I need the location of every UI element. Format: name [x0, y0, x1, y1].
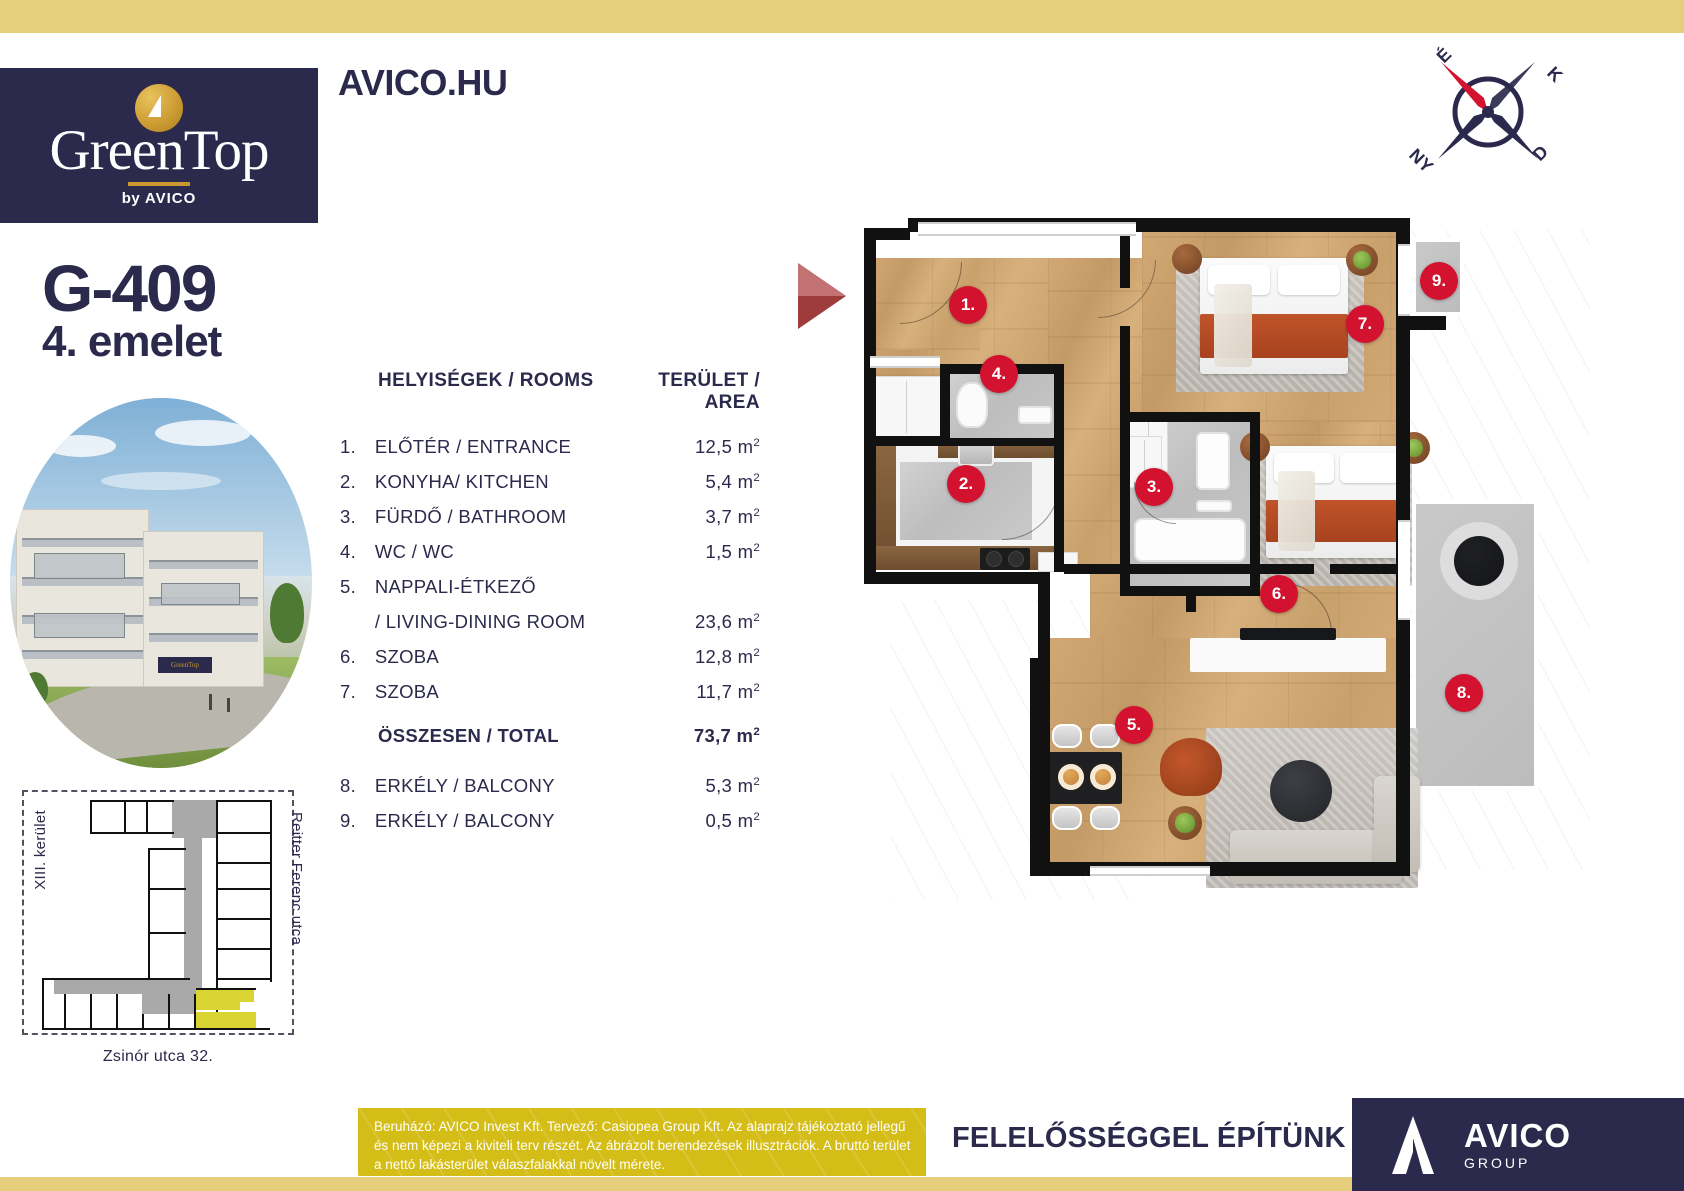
row-name: / LIVING-DINING ROOM: [375, 611, 621, 633]
table-row: 4. WC / WC 1,5 m2: [340, 541, 760, 563]
photo-balcony: [34, 613, 125, 639]
row-name: ERKÉLY / BALCONY: [375, 775, 621, 797]
television: [1240, 628, 1336, 640]
room-marker-9[interactable]: 9.: [1420, 262, 1458, 300]
row-name: SZOBA: [375, 681, 621, 703]
rooms-table-header: HELYISÉGEK / ROOMS TERÜLET / AREA: [340, 370, 760, 414]
room-marker-4[interactable]: 4.: [980, 355, 1018, 393]
row-area: 23,6 m2: [621, 611, 760, 633]
row-name: NAPPALI-ÉTKEZŐ: [375, 576, 621, 598]
row-index: 6.: [340, 646, 375, 668]
row-area: 1,5 m2: [621, 541, 760, 563]
balcony-door-8: [1398, 520, 1410, 620]
balcony-door-9: [1398, 244, 1410, 316]
dining-plate: [1058, 764, 1084, 790]
nightstand-bedroom7: [1172, 244, 1202, 274]
photo-person: [209, 694, 212, 710]
dining-table: [1048, 752, 1122, 804]
room-marker-8[interactable]: 8.: [1445, 674, 1483, 712]
row-index: 8.: [340, 775, 375, 797]
site-plan-street-bottom: Zsinór utca 32.: [22, 1048, 294, 1066]
row-name: ERKÉLY / BALCONY: [375, 810, 621, 832]
row-name: KONYHA/ KITCHEN: [375, 471, 621, 493]
window: [1090, 866, 1210, 876]
site-plan-core: [172, 800, 218, 838]
site-url: AVICO.HU: [338, 62, 507, 104]
row-index: 5.: [340, 576, 375, 598]
greentop-logo: GreenTop by AVICO: [0, 68, 318, 223]
room-marker-6[interactable]: 6.: [1260, 575, 1298, 613]
dining-chair: [1052, 806, 1082, 830]
area-header-label: TERÜLET / AREA: [608, 370, 760, 414]
table-row: 1. ELŐTÉR / ENTRANCE 12,5 m2: [340, 436, 760, 458]
total-label: ÖSSZESEN / TOTAL: [340, 725, 608, 747]
shower: [1196, 432, 1230, 490]
photo-cloud: [155, 420, 251, 446]
avico-logo-sub: GROUP: [1464, 1156, 1571, 1170]
photo-cloud: [101, 472, 221, 490]
table-row: 8. ERKÉLY / BALCONY 5,3 m2: [340, 775, 760, 797]
dining-plate: [1090, 764, 1116, 790]
logo-divider: [128, 182, 190, 186]
apartment-floorplan: 1. 2. 3. 4. 5. 6. 7. 8. 9.: [790, 200, 1590, 930]
total-area: 73,7 m2: [608, 725, 760, 747]
photo-signage: GreenTop: [158, 657, 212, 673]
compass-north-label: É: [1432, 43, 1455, 66]
window: [918, 222, 1136, 236]
row-name: SZOBA: [375, 646, 621, 668]
balcony-table: [1454, 536, 1504, 586]
living-plant: [1168, 806, 1202, 840]
row-index: 1.: [340, 436, 375, 458]
bathtub: [1134, 518, 1246, 562]
row-name: WC / WC: [375, 541, 621, 563]
bed-bedroom6: [1266, 446, 1408, 558]
row-area: 5,3 m2: [621, 775, 760, 797]
table-row: 2. KONYHA/ KITCHEN 5,4 m2: [340, 471, 760, 493]
compass-east-label: K: [1543, 63, 1566, 86]
logo-byline: by AVICO: [122, 190, 197, 207]
row-area: 5,4 m2: [621, 471, 760, 493]
site-plan-highlight-unit: [196, 990, 240, 1010]
window: [870, 356, 940, 368]
dining-chair: [1090, 806, 1120, 830]
compass-south-label: D: [1529, 141, 1552, 164]
avico-logo-text: AVICO GROUP: [1464, 1119, 1571, 1170]
table-row: — / LIVING-DINING ROOM 23,6 m2: [340, 611, 760, 633]
row-index: 3.: [340, 506, 375, 528]
disclaimer-text: Beruházó: AVICO Invest Kft. Tervező: Cas…: [374, 1117, 912, 1174]
room-marker-1[interactable]: 1.: [949, 286, 987, 324]
logo-avico-text: AVICO: [145, 190, 196, 207]
kitchen-counter-bottom: [872, 546, 1062, 570]
row-area: 0,5 m2: [621, 810, 760, 832]
row-area: 12,5 m2: [621, 436, 760, 458]
row-index: 2.: [340, 471, 375, 493]
greentop-emblem-icon: [135, 84, 183, 132]
room-marker-3[interactable]: 3.: [1135, 468, 1173, 506]
site-plan-street-right: Reitter Ferenc utca: [288, 812, 305, 945]
site-plan-district: XIII. kerület: [32, 810, 49, 890]
bathroom-sink: [1196, 500, 1232, 512]
cooktop: [980, 548, 1030, 570]
disclaimer-box: Beruházó: AVICO Invest Kft. Tervező: Cas…: [358, 1108, 926, 1176]
avico-group-logo: AVICO GROUP: [1352, 1098, 1684, 1191]
site-plan-highlight-unit: [240, 990, 254, 1002]
avico-logo-name: AVICO: [1464, 1119, 1571, 1152]
wc-sink: [1018, 406, 1052, 424]
table-row: 5. NAPPALI-ÉTKEZŐ: [340, 576, 760, 598]
photo-balcony: [34, 553, 125, 579]
photo-building-left: [16, 509, 149, 687]
room-marker-5[interactable]: 5.: [1115, 706, 1153, 744]
row-name: FÜRDŐ / BATHROOM: [375, 506, 621, 528]
photo-tree: [270, 583, 304, 643]
row-index: 9.: [340, 810, 375, 832]
site-plan: XIII. kerület: [22, 790, 294, 1035]
unit-floor: 4. emelet: [42, 320, 221, 364]
bed-bedroom7: [1200, 258, 1348, 374]
rooms-header-label: HELYISÉGEK / ROOMS: [340, 370, 608, 414]
row-area: 11,7 m2: [621, 681, 760, 703]
dining-chair: [1052, 724, 1082, 748]
room-marker-7[interactable]: 7.: [1346, 305, 1384, 343]
plant-bedroom7: [1346, 244, 1378, 276]
site-plan-corridor: [184, 838, 202, 998]
tv-console: [1190, 638, 1386, 672]
top-gold-band: [0, 0, 1684, 33]
avico-mark-icon: [1382, 1114, 1444, 1176]
floorplan-sheet: GreenTop by AVICO G-409 4. emelet Gree: [0, 0, 1684, 1191]
table-row: 3. FÜRDŐ / BATHROOM 3,7 m2: [340, 506, 760, 528]
building-photo: GreenTop: [10, 398, 312, 768]
toilet: [956, 382, 988, 428]
row-index: 4.: [340, 541, 375, 563]
armchair: [1160, 738, 1222, 796]
tagline: FELELŐSSÉGGEL ÉPÍTÜNK: [952, 1122, 1346, 1155]
photo-cloud: [46, 435, 116, 457]
table-row: 9. ERKÉLY / BALCONY 0,5 m2: [340, 810, 760, 832]
logo-by-text: by: [122, 190, 141, 207]
photo-balcony: [161, 583, 240, 605]
photo-tree: [22, 672, 48, 706]
compass-rose-icon: É K D NY: [1400, 36, 1575, 181]
photo-person: [227, 698, 230, 712]
table-row: 7. SZOBA 11,7 m2: [340, 681, 760, 703]
room-marker-2[interactable]: 2.: [947, 465, 985, 503]
table-total-row: ÖSSZESEN / TOTAL 73,7 m2: [340, 725, 760, 747]
row-area: 12,8 m2: [621, 646, 760, 668]
table-row: 6. SZOBA 12,8 m2: [340, 646, 760, 668]
coffee-table: [1270, 760, 1332, 822]
entrance-wardrobe: [870, 376, 942, 438]
rooms-table: HELYISÉGEK / ROOMS TERÜLET / AREA 1. ELŐ…: [340, 370, 760, 845]
row-name: ELŐTÉR / ENTRANCE: [375, 436, 621, 458]
compass-west-label: NY: [1405, 145, 1437, 177]
unit-id: G-409: [42, 255, 215, 321]
row-index: 7.: [340, 681, 375, 703]
row-area: 3,7 m2: [621, 506, 760, 528]
